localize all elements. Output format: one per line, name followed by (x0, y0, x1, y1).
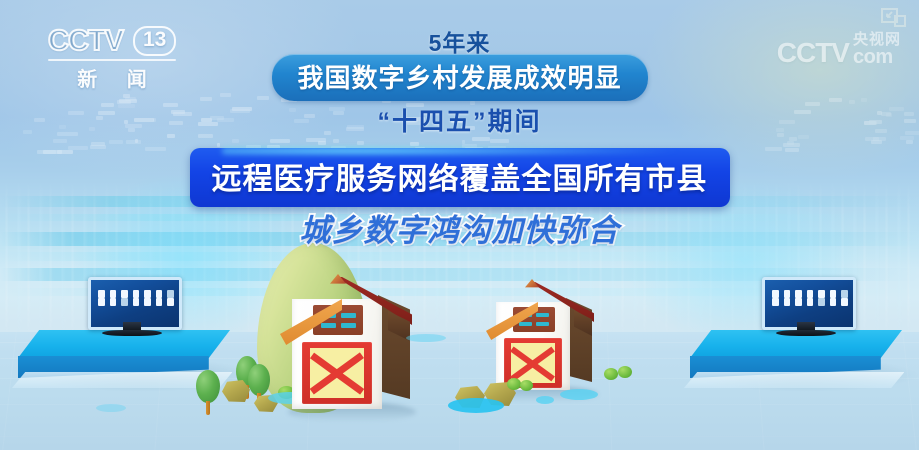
broadcast-screen: 5年来 我国数字乡村发展成效明显 “十四五”期间 远程医疗服务网络覆盖全国所有市… (0, 0, 919, 450)
bush (604, 368, 618, 380)
monitor-icon-row (98, 298, 174, 306)
cctv13-logo: CCTV 13 新 闻 (48, 26, 176, 92)
house-roof-peak (525, 279, 539, 293)
channel-name-cn: 新 闻 (48, 63, 176, 92)
puddle (560, 389, 598, 400)
tree (196, 370, 220, 414)
window-pane (341, 313, 356, 318)
cctv-wordmark: CCTV (48, 27, 123, 56)
pill-headline: 我国数字乡村发展成效明显 (271, 54, 647, 101)
platform-base (684, 372, 904, 388)
window-pane (321, 323, 336, 328)
watermark-cn-text: 央视网 (853, 32, 901, 47)
cctv13-logo-row: CCTV 13 (48, 26, 176, 56)
house-roof-peak (330, 274, 346, 290)
main-headline-wrapper: 远程医疗服务网络覆盖全国所有市县 (190, 148, 730, 207)
monitor-icon-row (98, 290, 174, 298)
house-front-wall (292, 299, 382, 409)
watermark-brand: CCTV (777, 40, 849, 67)
cctv-com-watermark: CCTV 央视网 com (777, 32, 901, 67)
tree-trunk (206, 401, 211, 415)
monitor-left (88, 277, 176, 340)
window-pane (519, 322, 532, 326)
house-door-panel (310, 348, 363, 398)
main-headline: 远程医疗服务网络覆盖全国所有市县 (190, 148, 730, 207)
house-large (292, 277, 410, 409)
monitor-icon-grid (98, 290, 174, 306)
restore-window-icon[interactable] (881, 8, 907, 28)
tree-crown (196, 370, 220, 403)
tree-crown (248, 364, 270, 396)
monitor-foot (776, 330, 836, 336)
window-pane (341, 323, 356, 328)
channel-number: 13 (133, 26, 176, 55)
monitor-icon-grid (772, 290, 848, 306)
monitor-icon-row (772, 290, 848, 298)
watermark-right: 央视网 com (853, 32, 901, 67)
slash-divider (123, 26, 133, 56)
logo-underline (48, 59, 176, 61)
sub-headline: 城乡数字鸿沟加快弥合 (0, 205, 919, 250)
window-pane (536, 313, 549, 317)
window-pane (536, 322, 549, 326)
bush (618, 366, 632, 378)
puddle (448, 398, 504, 413)
house-small (496, 282, 592, 390)
house-door (302, 342, 372, 404)
puddle (96, 404, 126, 412)
puddle (406, 334, 446, 342)
bush (507, 378, 521, 390)
monitor-right (762, 277, 850, 340)
period-text: “十四五”期间 (0, 102, 919, 138)
monitor-foot (102, 330, 162, 336)
house-door-panel (511, 343, 555, 383)
watermark-domain-text: com (853, 47, 893, 67)
bush (520, 380, 533, 391)
puddle (536, 396, 554, 404)
monitor-icon-row (772, 298, 848, 306)
house-front-wall (496, 302, 570, 390)
